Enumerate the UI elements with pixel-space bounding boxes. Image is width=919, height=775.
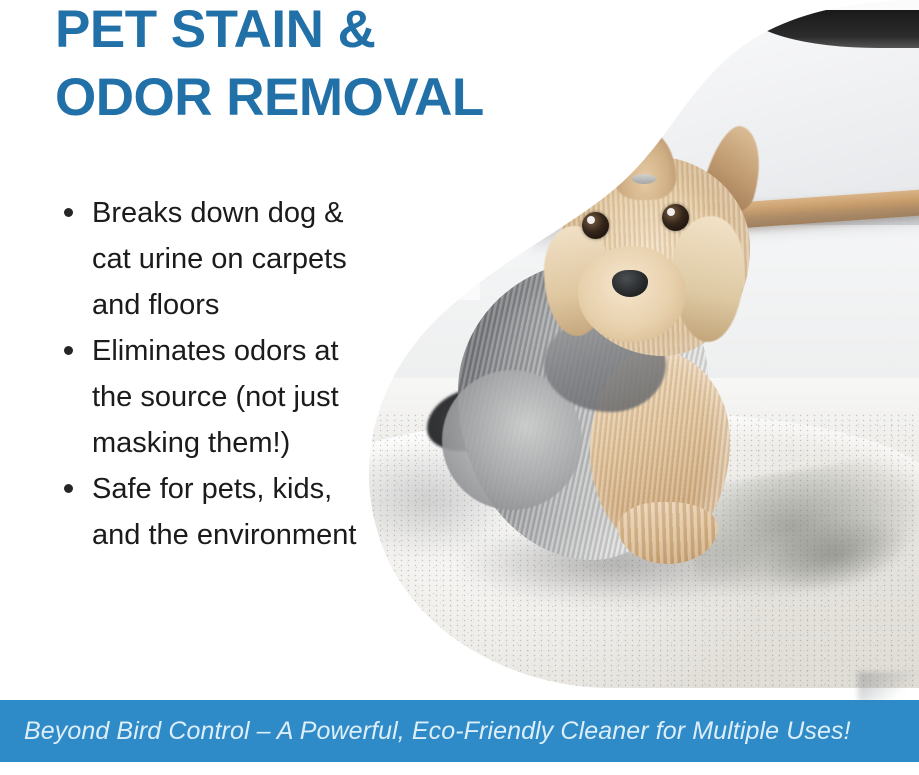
headline-line-2: ODOR REMOVAL (55, 64, 655, 132)
dog-topknot (614, 130, 676, 200)
dog-left-eye-glint (587, 216, 595, 224)
benefit-text: Safe for pets, kids, and the environment (92, 473, 356, 551)
dog-right-eye-glint (667, 208, 675, 216)
banner-corner-shadow (858, 672, 919, 702)
bullet-icon (64, 484, 73, 493)
bed-headboard-shadow (745, 10, 919, 48)
bullet-icon (64, 208, 73, 217)
bullet-icon (64, 346, 73, 355)
list-item: Safe for pets, kids, and the environment (56, 466, 386, 558)
yorkshire-terrier (440, 120, 820, 650)
list-item: Eliminates odors at the source (not just… (56, 328, 386, 466)
product-feature-infographic: PET STAIN & ODOR REMOVAL Breaks down dog… (0, 0, 919, 775)
benefits-list: Breaks down dog & cat urine on carpets a… (56, 190, 386, 558)
dog-topknot-band (632, 174, 656, 184)
benefit-text: Eliminates odors at the source (not just… (92, 335, 339, 459)
tagline-text: Beyond Bird Control – A Powerful, Eco-Fr… (24, 700, 851, 762)
list-item: Breaks down dog & cat urine on carpets a… (56, 190, 386, 328)
page-title: PET STAIN & ODOR REMOVAL (55, 0, 655, 132)
dog-right-eye (662, 204, 689, 231)
dog-left-eye (582, 212, 609, 239)
tagline-banner: Beyond Bird Control – A Powerful, Eco-Fr… (0, 700, 919, 762)
benefit-text: Breaks down dog & cat urine on carpets a… (92, 197, 347, 321)
headline-line-1: PET STAIN & (55, 0, 655, 64)
